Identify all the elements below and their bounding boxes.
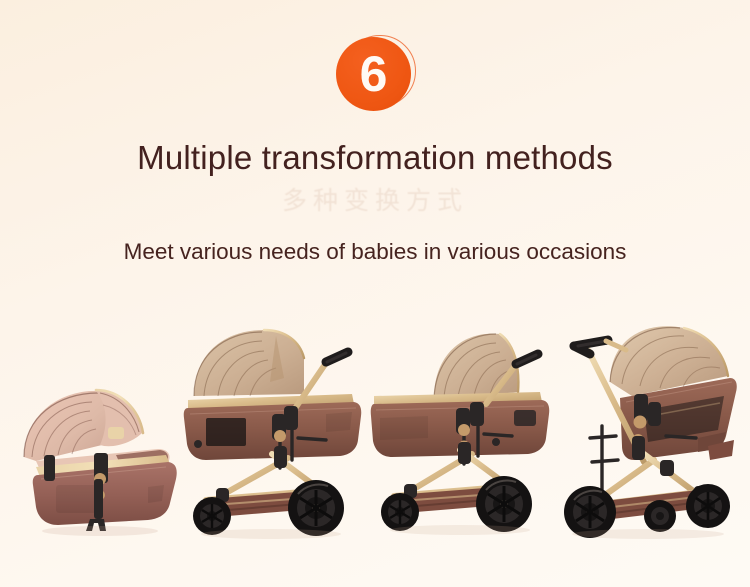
pram-rear-wheel — [288, 480, 344, 536]
pram-canopy — [194, 330, 304, 396]
pram-front-wheel — [193, 497, 231, 535]
product-pram-rear-facing — [176, 318, 366, 540]
page-title: Multiple transformation methods — [0, 139, 750, 177]
badge-number: 6 — [336, 37, 411, 111]
product-stroller-reclined — [548, 310, 746, 540]
bassinet-buckle — [108, 427, 124, 439]
stroller-front-wheel — [686, 484, 730, 528]
product-pram-forward-facing — [368, 318, 554, 540]
stroller-mid-wheel — [644, 500, 676, 532]
product-detached-bassinet — [8, 375, 183, 540]
step-badge: 6 — [332, 33, 422, 115]
pram-front-wheel — [381, 493, 419, 531]
page-subtitle: Meet various needs of babies in various … — [0, 239, 750, 265]
promo-poster: 6 Multiple transformation methods 多种变换方式… — [0, 0, 750, 587]
bassinet-canopy — [24, 390, 143, 461]
pram-canopy — [434, 334, 518, 400]
pram-mesh-window — [206, 418, 246, 446]
watermark-text: 多种变换方式 — [0, 181, 750, 217]
product-gallery — [0, 300, 750, 540]
pram-rear-wheel — [476, 476, 532, 532]
